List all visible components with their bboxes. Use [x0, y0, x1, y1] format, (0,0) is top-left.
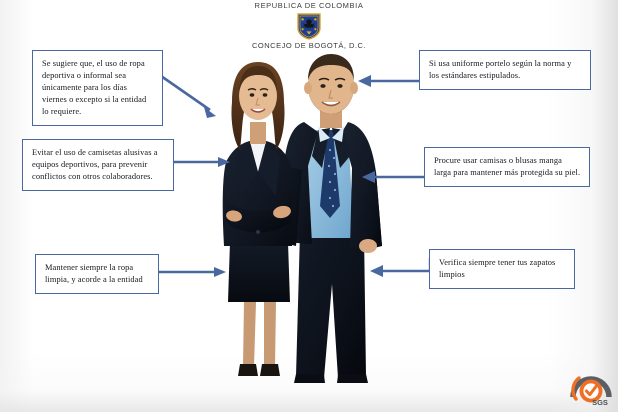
callout-top-right[interactable]: Si usa uniforme portelo según la norma y… [419, 50, 591, 90]
callout-top-left[interactable]: Se sugiere que, el uso de ropa deportiva… [32, 50, 163, 126]
header-title: REPUBLICA DE COLOMBIA [0, 1, 618, 10]
header-subtitle: CONCEJO DE BOGOTÁ, D.C. [0, 41, 618, 50]
slide-header: REPUBLICA DE COLOMBIA CONCEJO DE BOGOTÁ,… [0, 0, 618, 50]
bogota-coat-of-arms-icon [296, 12, 322, 40]
callout-bottom-left[interactable]: Mantener siempre la ropa limpia, y acord… [35, 254, 159, 294]
professionals-photo [196, 46, 406, 386]
slide-canvas: REPUBLICA DE COLOMBIA CONCEJO DE BOGOTÁ,… [0, 0, 618, 412]
callout-bottom-right[interactable]: Verifica siempre tener tus zapatos limpi… [429, 249, 575, 289]
sgs-label: SGS [592, 398, 608, 407]
callout-middle-left[interactable]: Evitar el uso de camisetas alusivas a eq… [22, 139, 174, 191]
callout-middle-right[interactable]: Procure usar camisas o blusas manga larg… [424, 147, 590, 187]
sgs-certification-icon: SGS [569, 363, 613, 409]
